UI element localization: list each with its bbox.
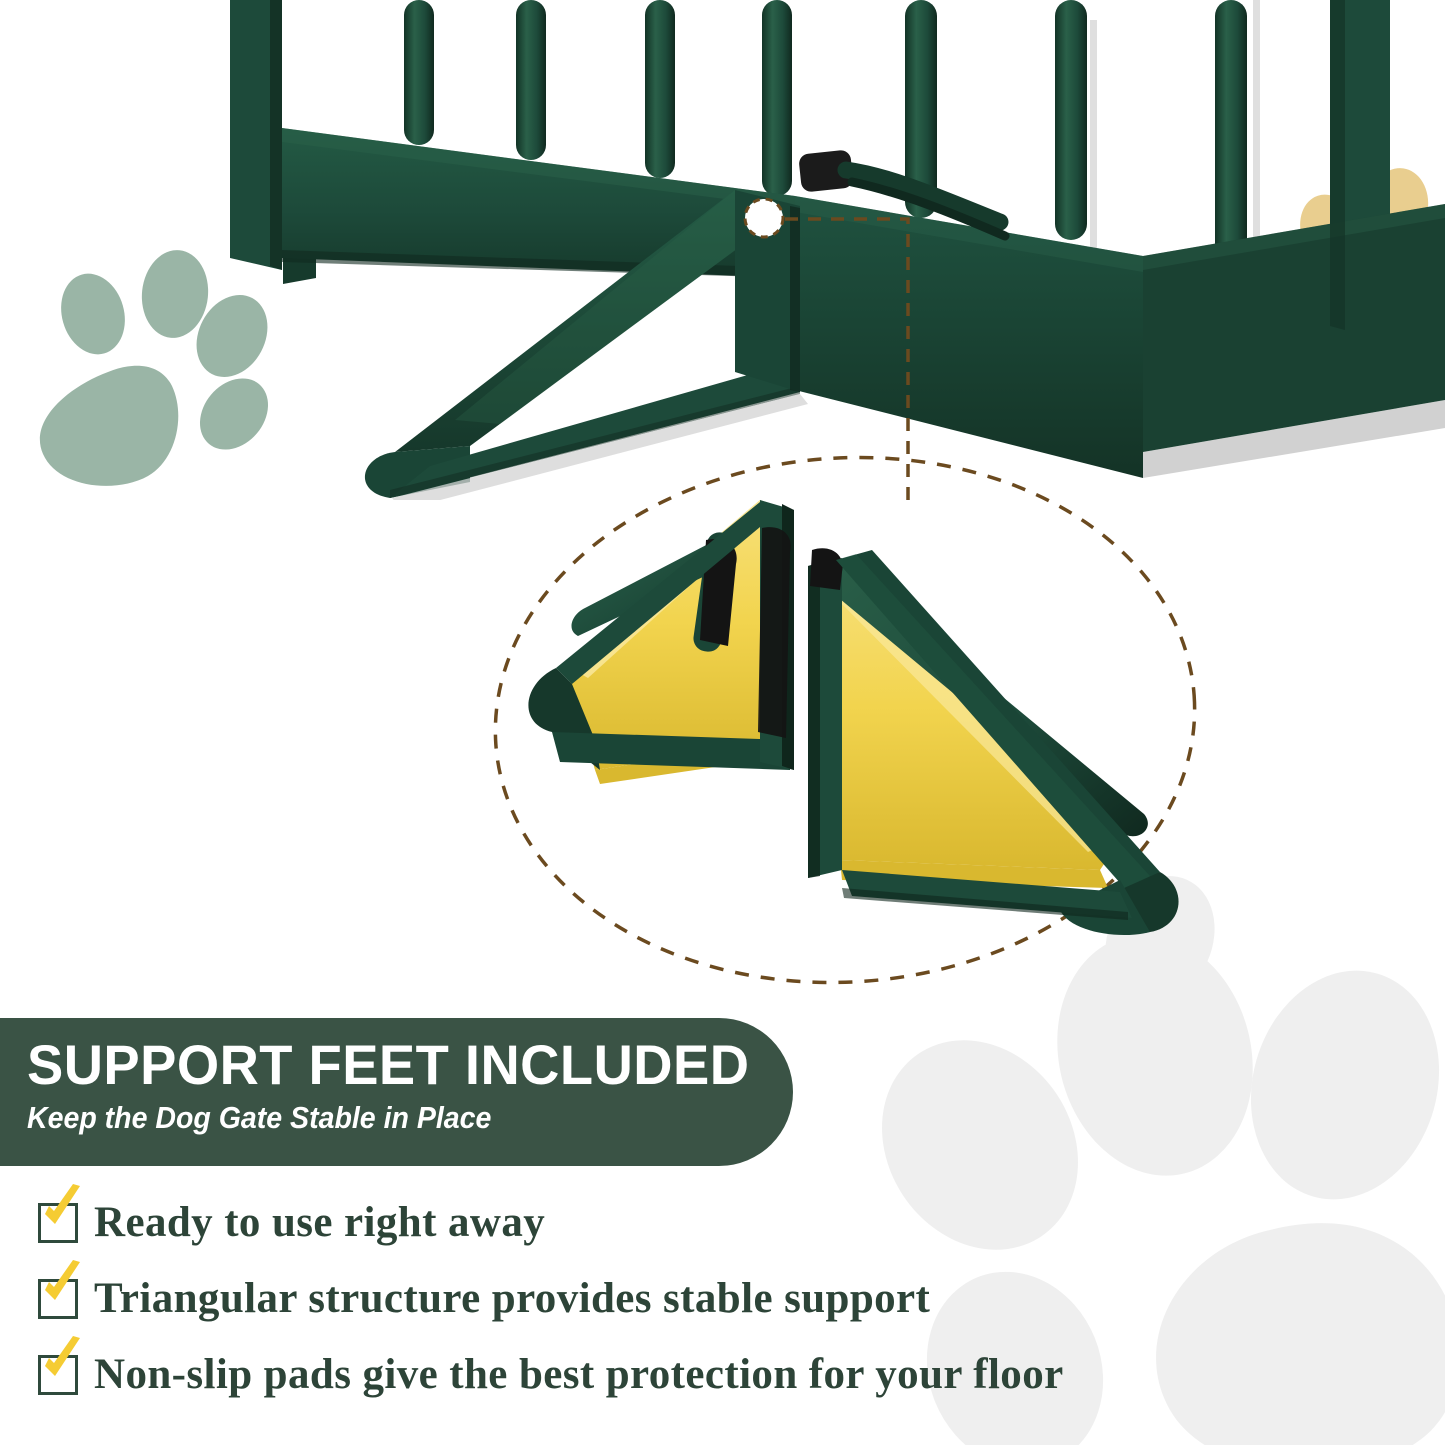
detail-callout	[460, 440, 1290, 1020]
feature-label: Triangular structure provides stable sup…	[94, 1275, 930, 1323]
gate-panel-right	[795, 0, 1445, 478]
paw-sage-svg	[20, 240, 320, 490]
checkbox-icon	[38, 1355, 78, 1395]
check-icon	[39, 1184, 85, 1236]
feature-label: Non-slip pads give the best protection f…	[94, 1351, 1064, 1399]
feature-item: Non-slip pads give the best protection f…	[38, 1337, 1238, 1413]
feature-list: Ready to use right away Triangular struc…	[38, 1185, 1238, 1413]
detail-origin-marker	[745, 199, 783, 237]
infographic-page: SUPPORT FEET INCLUDED Keep the Dog Gate …	[0, 0, 1445, 1445]
feature-label: Ready to use right away	[94, 1199, 545, 1247]
banner-subtitle: Keep the Dog Gate Stable in Place	[27, 1098, 732, 1138]
feature-item: Triangular structure provides stable sup…	[38, 1261, 1238, 1337]
checkbox-icon	[38, 1279, 78, 1319]
banner-title: SUPPORT FEET INCLUDED	[27, 1034, 770, 1096]
support-foot-right	[808, 548, 1179, 935]
checkbox-icon	[38, 1203, 78, 1243]
check-icon	[39, 1336, 85, 1388]
feature-item: Ready to use right away	[38, 1185, 1238, 1261]
paw-print-sage	[20, 240, 320, 490]
support-foot-left	[528, 470, 794, 784]
callout-svg	[460, 440, 1290, 1020]
headline-banner: SUPPORT FEET INCLUDED Keep the Dog Gate …	[0, 1018, 793, 1166]
check-icon	[39, 1260, 85, 1312]
